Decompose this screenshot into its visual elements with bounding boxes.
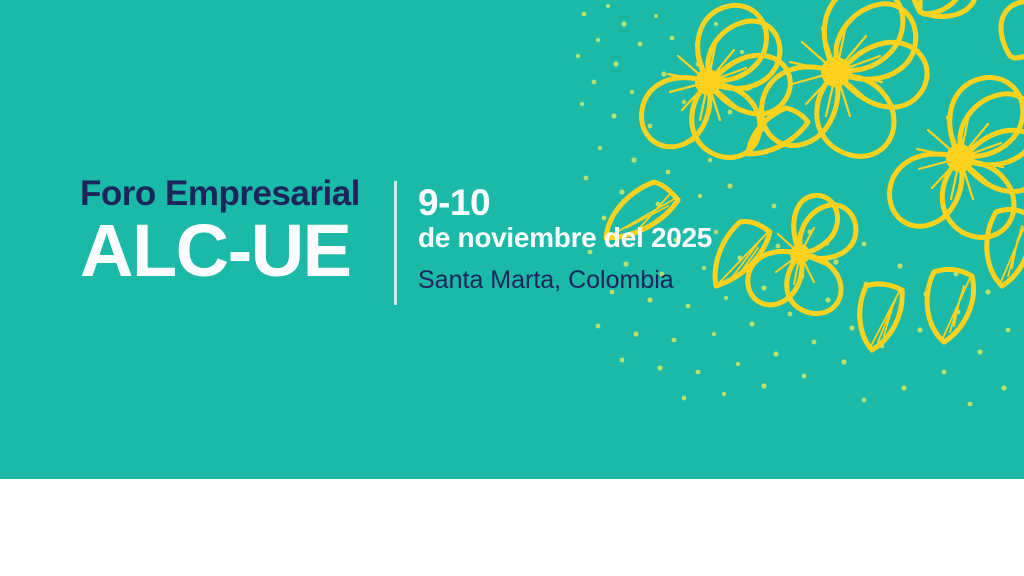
logo-row: Global Gateway [0,479,1024,576]
event-banner: Foro Empresarial ALC-UE 9-10 de noviembr… [0,0,1024,576]
event-details-block: 9-10 de noviembre del 2025 Santa Marta, … [418,184,758,294]
event-date-month: de noviembre del 2025 [418,223,758,254]
event-location: Santa Marta, Colombia [418,267,758,295]
title-block: Foro Empresarial ALC-UE [80,176,400,288]
sponsor-footer: Global Gateway [0,479,1024,576]
event-date-range: 9-10 [418,184,758,222]
page-title: ALC-UE [80,213,400,288]
vertical-divider [394,181,397,305]
title-kicker: Foro Empresarial [80,176,400,211]
hero-section: Foro Empresarial ALC-UE 9-10 de noviembr… [0,0,1024,479]
